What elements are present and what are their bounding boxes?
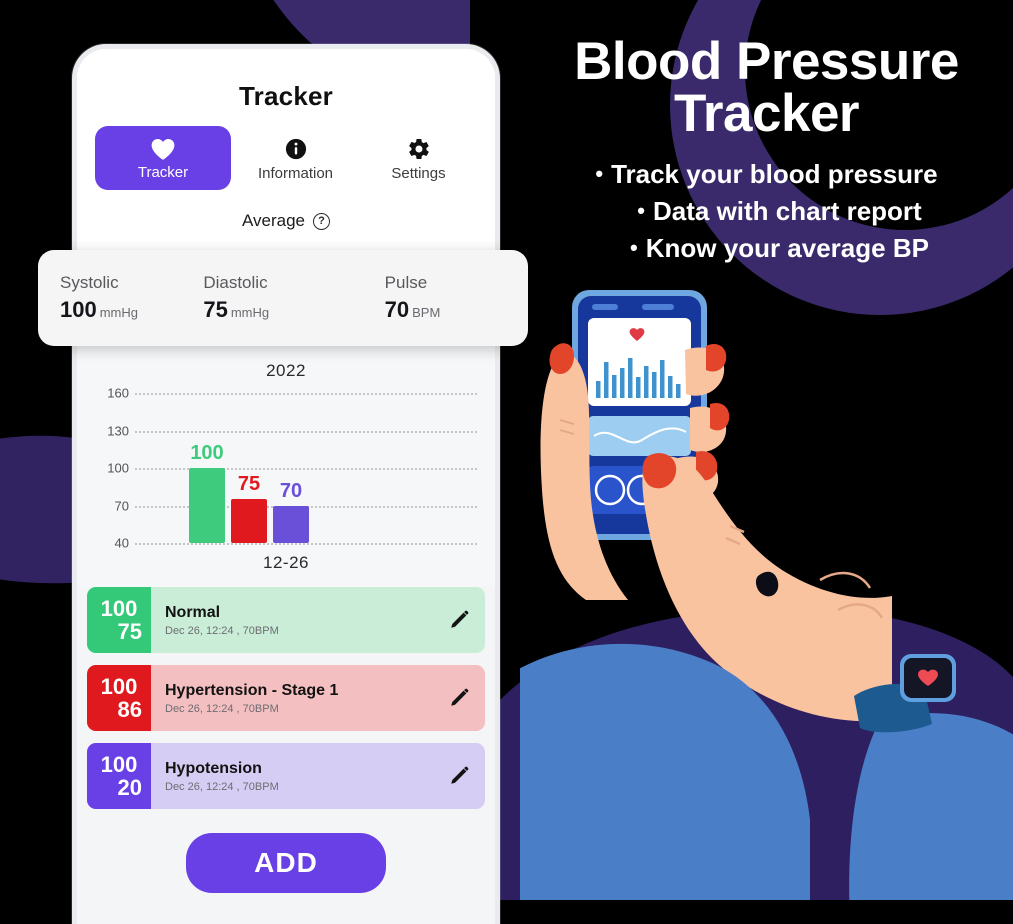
chart-ytick-label: 100 [87,461,129,476]
record-meta: Dec 26, 12:24 , 70BPM [165,703,433,715]
chart-gridline [135,468,477,470]
bullet-icon: • [630,235,638,260]
chart-ytick-label: 130 [87,423,129,438]
stat-diastolic-label: Diastolic [203,273,324,293]
phone-speaker-right [642,304,674,310]
chart-bar[interactable] [231,499,267,543]
record-row[interactable]: 10020HypotensionDec 26, 12:24 , 70BPM [87,743,485,809]
chart-bar-value-label: 70 [280,480,302,503]
record-systolic: 100 [101,675,138,698]
info-icon [285,136,307,162]
record-diastolic: 86 [118,698,151,721]
gear-icon [407,136,431,162]
promo-bullet-item: •Data with chart report [520,193,1013,230]
page-title: Tracker [77,49,495,112]
chart-xlabel: 12-26 [77,543,495,587]
bar-chart: 16013010070401007570 [87,393,485,543]
promo-bullet-list: •Track your blood pressure•Data with cha… [520,156,1013,267]
phone-wave-card [588,416,691,456]
stat-diastolic-value: 75mmHg [203,297,324,323]
record-meta: Dec 26, 12:24 , 70BPM [165,625,433,637]
chart-bar[interactable] [273,506,309,544]
chart-ytick-label: 160 [87,386,129,401]
chart-bar[interactable] [189,468,225,543]
average-label: Average [242,211,305,231]
promo-bullet-item: •Know your average BP [520,230,1013,267]
add-button[interactable]: ADD [186,833,386,893]
hand-holding-phone-illustration [520,280,1013,900]
pencil-icon [448,687,470,709]
stat-systolic: Systolic 100mmHg [60,273,181,323]
chart-ytick-label: 40 [87,536,129,551]
record-body: Hypertension - Stage 1Dec 26, 12:24 , 70… [151,665,433,731]
edit-record-button[interactable] [433,587,485,653]
chart-gridline [135,393,477,395]
promo-title-line1: Blood Pressure [520,36,1013,88]
record-category: Hypotension [165,760,433,778]
promo-panel: Blood Pressure Tracker •Track your blood… [520,36,1013,267]
phone-speaker-left [592,304,618,310]
record-diastolic: 75 [118,620,151,643]
promo-bullet-text: Know your average BP [646,233,929,263]
stat-systolic-number: 100 [60,297,97,322]
stat-diastolic-unit: mmHg [231,305,269,320]
chart-ytick-label: 70 [87,498,129,513]
add-button-wrap: ADD [77,821,495,893]
record-values: 10020 [87,743,151,809]
phone-screen: Tracker Tracker Information [77,49,495,924]
tab-tracker-label: Tracker [138,164,188,181]
stat-pulse-unit: BPM [412,305,440,320]
stat-systolic-value: 100mmHg [60,297,181,323]
bullet-icon: • [595,161,603,186]
tab-settings[interactable]: Settings [360,126,477,191]
record-values: 10075 [87,587,151,653]
records-list: 10075NormalDec 26, 12:24 , 70BPM10086Hyp… [77,587,495,809]
stat-pulse-number: 70 [385,297,409,322]
stat-diastolic-number: 75 [203,297,227,322]
tab-settings-label: Settings [391,165,445,182]
pencil-icon [448,765,470,787]
chart-bar-value-label: 100 [190,442,223,465]
record-meta: Dec 26, 12:24 , 70BPM [165,781,433,793]
chart-gridline [135,431,477,433]
stat-systolic-label: Systolic [60,273,181,293]
stat-diastolic: Diastolic 75mmHg [181,273,324,323]
tab-information-label: Information [258,165,333,182]
chart-title: 2022 [77,361,495,381]
tab-information[interactable]: Information [237,126,354,191]
edit-record-button[interactable] [433,743,485,809]
chart-bar-value-label: 75 [238,473,260,496]
record-values: 10086 [87,665,151,731]
record-diastolic: 20 [118,776,151,799]
chart-gridline [135,543,477,545]
tab-bar: Tracker Information Settings [77,112,495,197]
promo-bullet-item: •Track your blood pressure [520,156,1013,193]
record-row[interactable]: 10086Hypertension - Stage 1Dec 26, 12:24… [87,665,485,731]
record-row[interactable]: 10075NormalDec 26, 12:24 , 70BPM [87,587,485,653]
pencil-icon [448,609,470,631]
record-category: Normal [165,604,433,622]
tab-tracker[interactable]: Tracker [95,126,231,190]
finger-nail-2 [710,403,729,430]
record-systolic: 100 [101,753,138,776]
sleeve-right [849,713,1013,900]
stat-systolic-unit: mmHg [100,305,138,320]
record-category: Hypertension - Stage 1 [165,682,433,700]
stat-pulse-value: 70BPM [385,297,506,323]
average-header: Average ? [77,197,495,253]
stat-pulse-label: Pulse [385,273,506,293]
edit-record-button[interactable] [433,665,485,731]
promo-bullet-text: Data with chart report [653,196,922,226]
bullet-icon: • [637,198,645,223]
record-body: HypotensionDec 26, 12:24 , 70BPM [151,743,433,809]
record-body: NormalDec 26, 12:24 , 70BPM [151,587,433,653]
phone-mockup: Tracker Tracker Information [72,44,500,924]
record-systolic: 100 [101,597,138,620]
average-stats-card: Systolic 100mmHg Diastolic 75mmHg Pulse … [38,250,528,346]
heart-icon [150,136,176,162]
stat-pulse: Pulse 70BPM [325,273,506,323]
promo-bullet-text: Track your blood pressure [611,159,938,189]
promo-title-line2: Tracker [520,88,1013,140]
question-mark-icon[interactable]: ? [313,213,330,230]
